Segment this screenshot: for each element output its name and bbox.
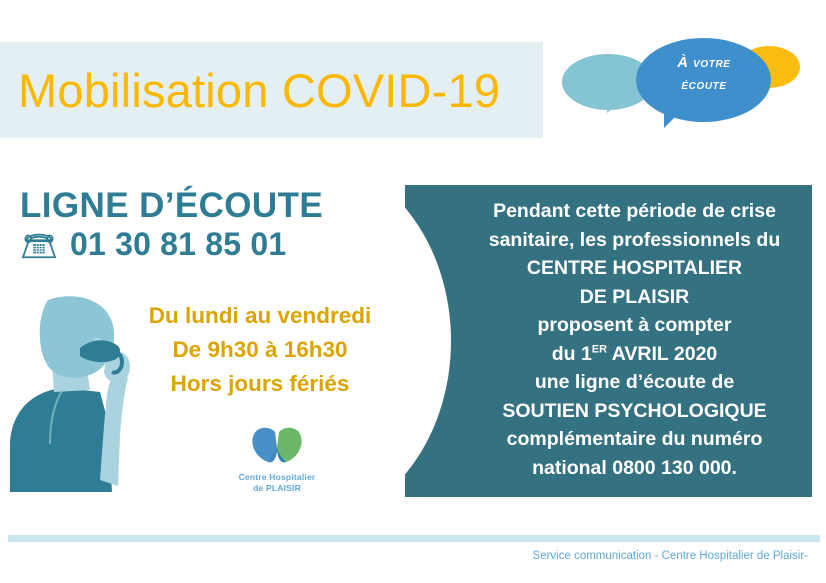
- speech-bubble-teal-tail-icon: [607, 97, 623, 115]
- announcement-line-2: sanitaire, les professionnels du: [457, 226, 812, 255]
- opening-hours-line2: De 9h30 à 16h30: [110, 333, 410, 367]
- announcement-panel: Pendant cette période de crise sanitaire…: [405, 185, 812, 497]
- speech-bubble-text-line2: écoute: [638, 74, 770, 96]
- announcement-date-line: du 1ER AVRIL 2020: [457, 340, 812, 369]
- poster-canvas: Mobilisation COVID-19 À votre écoute LIG…: [0, 0, 826, 583]
- announcement-date-prefix: du 1: [552, 343, 592, 365]
- speech-bubble-cluster: À votre écoute: [548, 28, 826, 148]
- announcement-date-ordinal: ER: [592, 343, 607, 355]
- phone-number: 01 30 81 85 01: [70, 226, 286, 263]
- butterfly-logo-icon: [222, 424, 332, 470]
- speech-bubble-blue-tail-icon: [664, 106, 686, 128]
- speech-bubble-text-line1: À votre: [638, 52, 770, 74]
- hospital-logo: Centre Hospitalier de PLAISIR: [222, 424, 332, 502]
- announcement-line-6: une ligne d’écoute de: [457, 368, 812, 397]
- page-title: Mobilisation COVID-19: [18, 52, 538, 130]
- hospital-logo-line1: Centre Hospitalier: [239, 472, 316, 482]
- opening-hours: Du lundi au vendredi De 9h30 à 16h30 Hor…: [110, 299, 410, 401]
- announcement-line-5: proposent à compter: [457, 311, 812, 340]
- hospital-logo-text: Centre Hospitalier de PLAISIR: [222, 472, 332, 494]
- person-on-phone-illustration: [8, 292, 150, 492]
- announcement-line-9: national 0800 130 000.: [457, 454, 812, 483]
- announcement-line-8: complémentaire du numéro: [457, 425, 812, 454]
- phone-number-row: 01 30 81 85 01: [18, 226, 286, 263]
- announcement-line-7: SOUTIEN PSYCHOLOGIQUE: [457, 397, 812, 426]
- announcement-date-suffix: AVRIL 2020: [607, 343, 717, 365]
- footer-divider: [8, 535, 820, 542]
- opening-hours-line3: Hors jours fériés: [110, 367, 410, 401]
- listening-line-heading: LIGNE D’ÉCOUTE: [20, 186, 323, 226]
- footer-credit: Service communication - Centre Hospitali…: [533, 550, 808, 562]
- announcement-text: Pendant cette période de crise sanitaire…: [405, 197, 812, 482]
- announcement-line-4: DE PLAISIR: [457, 283, 812, 312]
- speech-bubble-text: À votre écoute: [638, 52, 770, 96]
- announcement-line-3: CENTRE HOSPITALIER: [457, 254, 812, 283]
- announcement-line-1: Pendant cette période de crise: [457, 197, 812, 226]
- telephone-icon: [18, 228, 60, 262]
- opening-hours-line1: Du lundi au vendredi: [110, 299, 410, 333]
- hospital-logo-line2: de PLAISIR: [222, 483, 332, 494]
